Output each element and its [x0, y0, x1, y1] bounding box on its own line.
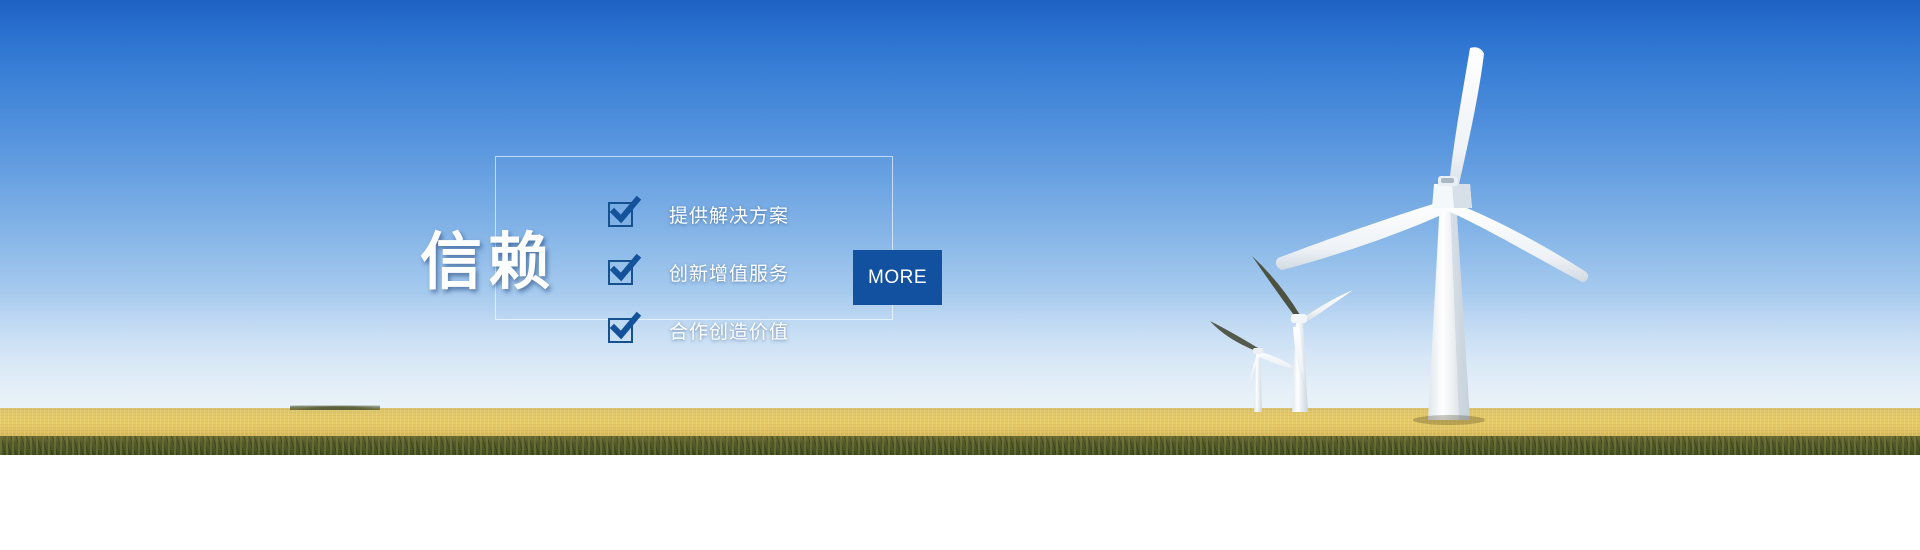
turbine-large-foreground [1276, 47, 1588, 425]
turbine-mid-background [1252, 256, 1353, 412]
check-icon [608, 318, 633, 343]
page-background-below-banner [0, 455, 1920, 550]
list-item-label: 合作创造价值 [669, 317, 789, 344]
wind-turbine-group [0, 0, 1920, 460]
list-item: 创新增值服务 [608, 256, 838, 289]
list-item: 提供解决方案 [608, 198, 838, 231]
turbine-small-background [1210, 321, 1300, 412]
list-item-label: 提供解决方案 [669, 201, 789, 228]
check-icon [608, 260, 633, 285]
hero-banner: 信赖 提供解决方案 创新增值服务 合作创造 [0, 0, 1920, 550]
list-item-label: 创新增值服务 [669, 259, 789, 286]
more-button[interactable]: MORE [853, 250, 942, 305]
feature-list: 提供解决方案 创新增值服务 合作创造价值 [608, 198, 838, 347]
check-icon [608, 202, 633, 227]
page-title: 信赖 [420, 232, 556, 294]
list-item: 合作创造价值 [608, 314, 838, 347]
